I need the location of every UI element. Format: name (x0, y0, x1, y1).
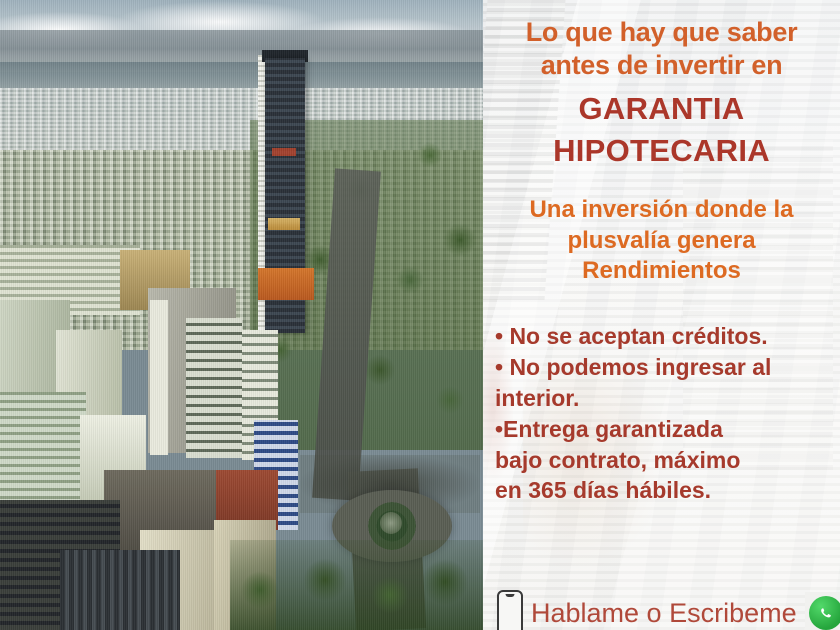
promo-poster: Lo que hay que saber antes de invertir e… (0, 0, 840, 630)
headline: Lo que hay que saber antes de invertir e… (483, 16, 840, 82)
aerial-city-photo (0, 0, 483, 630)
tower-midband (268, 218, 300, 230)
fountain-monument (380, 512, 402, 534)
bullet-line: • No podemos ingresar al (495, 353, 835, 383)
text-panel: Lo que hay que saber antes de invertir e… (483, 0, 840, 630)
whatsapp-button[interactable] (805, 592, 840, 630)
panel-content: Lo que hay que saber antes de invertir e… (483, 0, 840, 630)
whatsapp-icon (809, 596, 840, 630)
headline-strong-line-2: HIPOTECARIA (483, 130, 840, 172)
bullet-line: interior. (495, 384, 835, 414)
building-block (0, 392, 86, 512)
subheadline: Una inversión donde la plusvalía genera … (483, 195, 840, 287)
building-block (60, 550, 180, 630)
smartphone-icon (497, 590, 523, 630)
subheadline-line-2: plusvalía genera (495, 226, 828, 257)
bullet-list: • No se aceptan créditos. • No podemos i… (495, 322, 835, 507)
contact-text: Hablame o Escribeme (531, 599, 797, 627)
photo-layers (0, 0, 483, 630)
tree-canopy (230, 540, 483, 630)
tower-accent-band (272, 148, 296, 156)
headline-line-2: antes de invertir en (491, 49, 832, 82)
subheadline-line-1: Una inversión donde la (495, 195, 828, 226)
tower-base-orange (258, 268, 314, 300)
bullet-line: •Entrega garantizada (495, 415, 835, 445)
headline-strong-line-1: GARANTIA (483, 88, 840, 130)
bullet-line: • No se aceptan créditos. (495, 322, 835, 352)
headline-strong: GARANTIA HIPOTECARIA (483, 88, 840, 172)
subheadline-line-3: Rendimientos (495, 256, 828, 287)
bullet-line: bajo contrato, máximo (495, 446, 835, 476)
headline-line-1: Lo que hay que saber (491, 16, 832, 49)
contact-bar: Hablame o Escribeme (483, 590, 840, 630)
bullet-line: en 365 días hábiles. (495, 476, 835, 506)
building-block (186, 318, 242, 458)
building-block (150, 300, 168, 455)
